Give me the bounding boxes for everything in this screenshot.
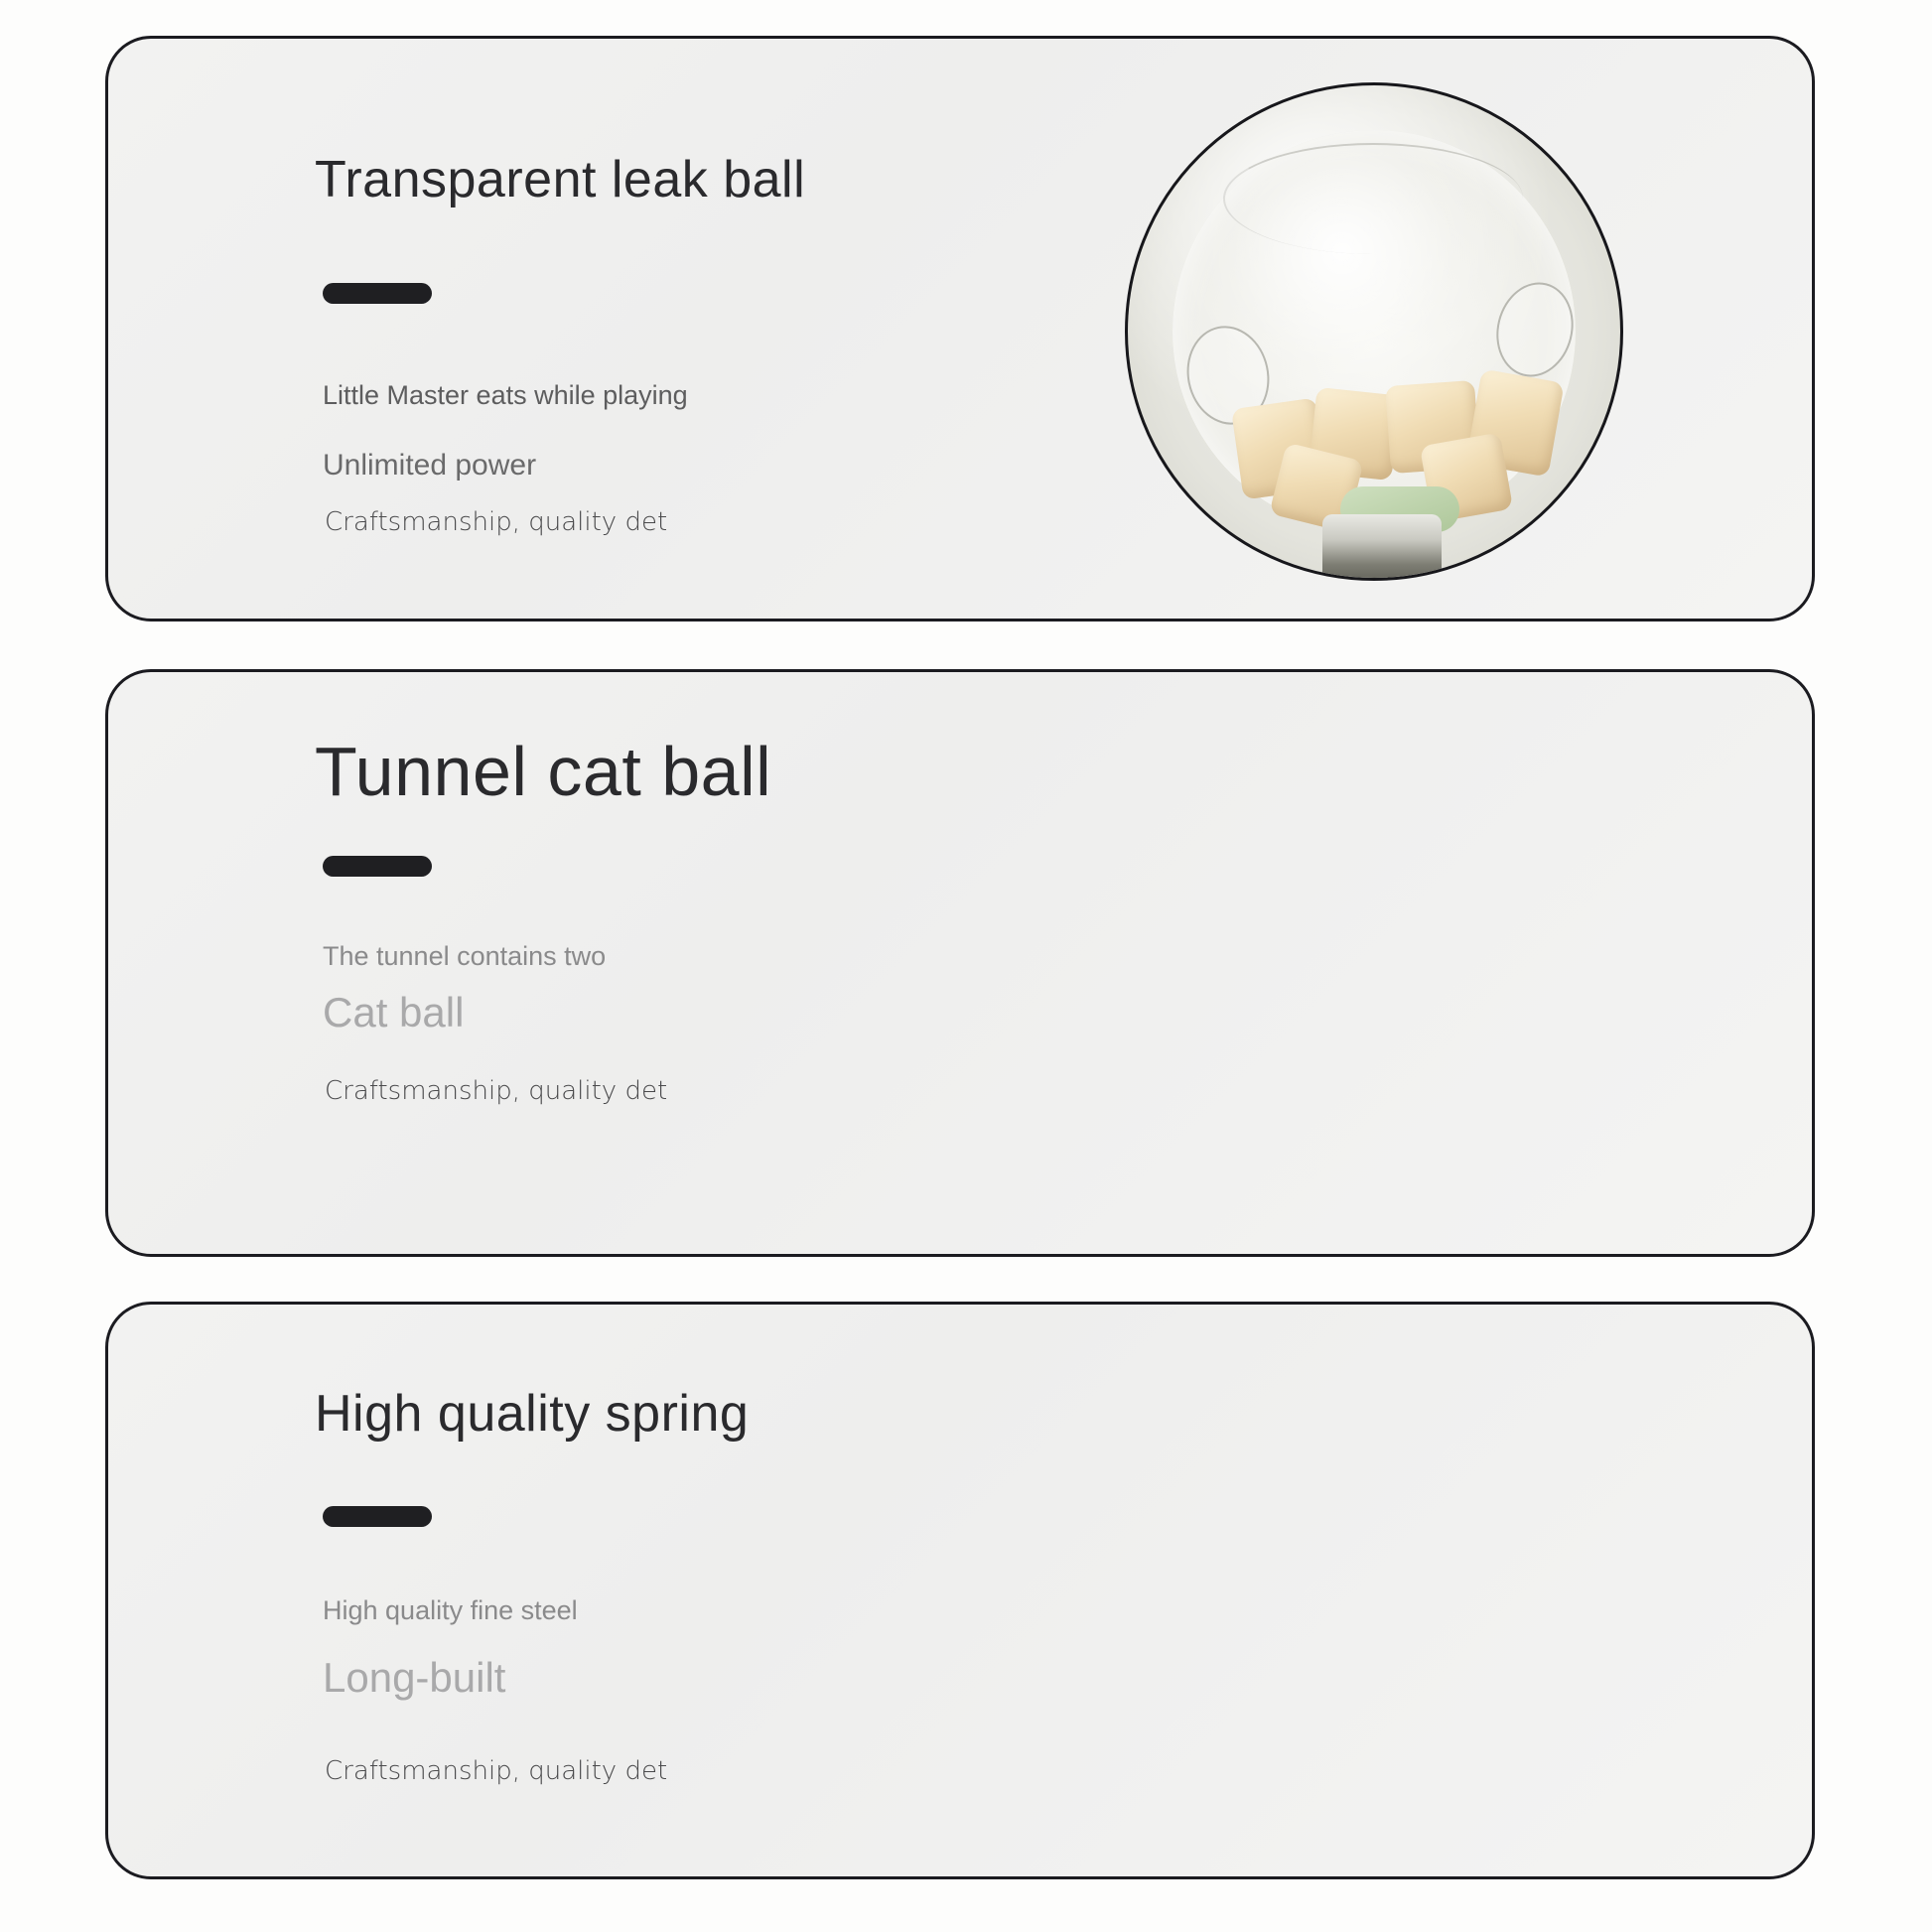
card-title: Transparent leak ball [315, 150, 805, 209]
feature-card-transparent-leak-ball[interactable]: Transparent leak ball Little Master eats… [105, 36, 1815, 621]
card-text-column: Tunnel cat ball The tunnel contains two … [108, 672, 982, 1254]
feature-cards-page: Transparent leak ball Little Master eats… [0, 0, 1932, 1932]
card-text-column: High quality spring High quality fine st… [108, 1305, 982, 1876]
accent-dash [323, 1506, 432, 1527]
feature-card-tunnel-cat-ball[interactable]: Tunnel cat ball The tunnel contains two … [105, 669, 1815, 1257]
card-caption: Craftsmanship, quality det [325, 1074, 722, 1108]
ball-base-cap [1322, 514, 1442, 581]
card-subtitle-large: Unlimited power [323, 451, 819, 481]
accent-dash [323, 856, 432, 877]
card-subtitle-small: The tunnel contains two [323, 943, 740, 971]
card-subtitle-large: Cat ball [323, 992, 819, 1034]
card-caption: Craftsmanship, quality det [325, 1754, 722, 1788]
feature-card-high-quality-spring[interactable]: High quality spring High quality fine st… [105, 1302, 1815, 1879]
card-text-column: Transparent leak ball Little Master eats… [108, 39, 982, 619]
card-subtitle-small: High quality fine steel [323, 1597, 740, 1625]
accent-dash [323, 283, 432, 304]
card-title: Tunnel cat ball [315, 732, 771, 811]
card-title: High quality spring [315, 1384, 749, 1444]
ball-highlight-seam [1223, 143, 1523, 254]
transparent-leak-ball-photo [1125, 82, 1623, 581]
card-subtitle-small: Little Master eats while playing [323, 382, 740, 410]
card-caption: Craftsmanship, quality det [325, 505, 722, 539]
card-subtitle-large: Long-built [323, 1657, 819, 1699]
